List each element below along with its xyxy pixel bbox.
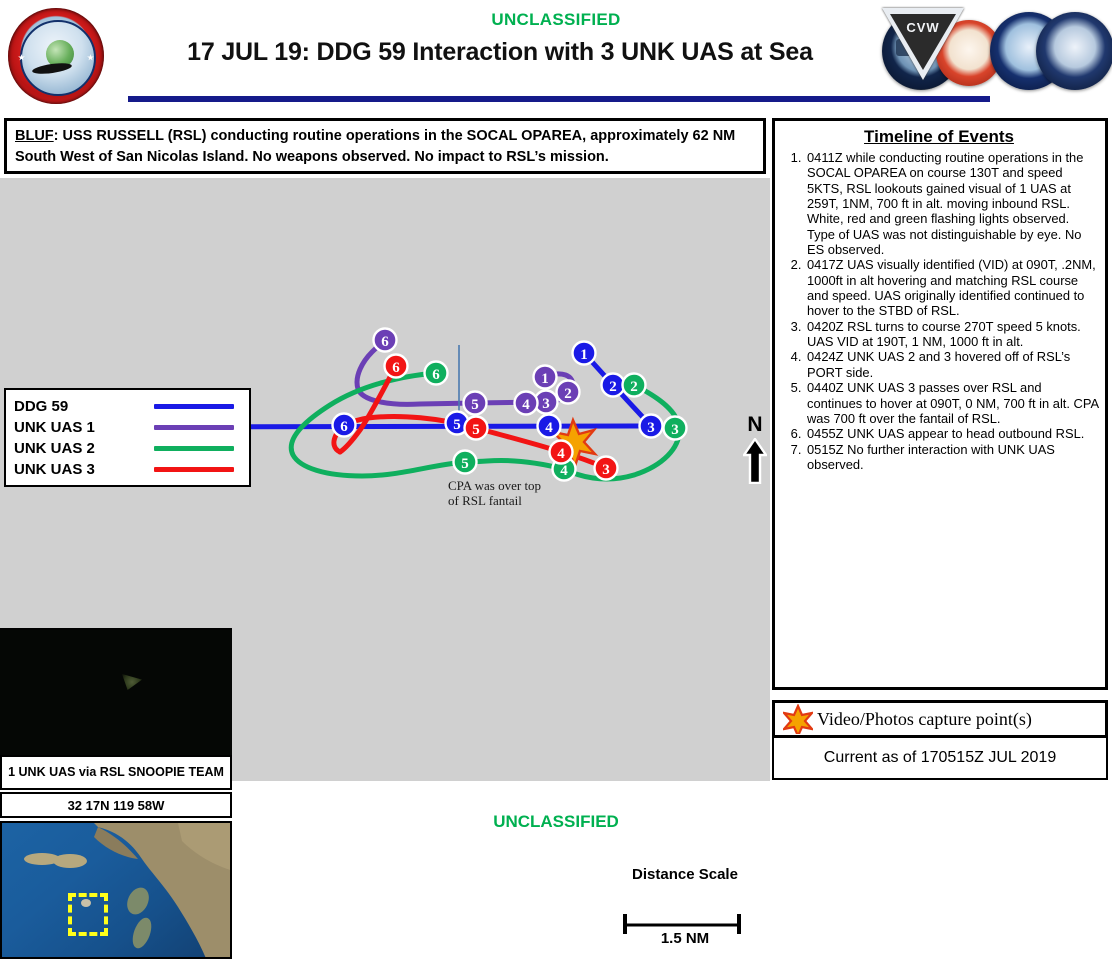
timeline-list: 0411Z while conducting routine operation… [779, 150, 1099, 472]
timeline-item: 0455Z UNK UAS appear to head outbound RS… [805, 426, 1099, 441]
capture-point-legend: Video/Photos capture point(s) [772, 700, 1108, 738]
svg-text:6: 6 [432, 367, 440, 383]
legend-label: UNK UAS 2 [14, 440, 154, 457]
timeline-item: 0420Z RSL turns to course 270T speed 5 k… [805, 319, 1099, 350]
svg-text:3: 3 [647, 420, 655, 436]
legend-swatch-unk-uas-1 [154, 425, 234, 430]
legend-item-unk-uas-2: UNK UAS 2 [14, 438, 241, 459]
cvw-11-seal: CVW [882, 8, 964, 80]
north-compass: N [735, 414, 775, 484]
svg-text:1: 1 [580, 347, 588, 363]
ddg-1000-seal [1036, 12, 1112, 90]
legend-item-unk-uas-3: UNK UAS 3 [14, 459, 241, 480]
svg-text:2: 2 [609, 379, 617, 395]
timeline-item: 0417Z UAS visually identified (VID) at 0… [805, 257, 1099, 318]
svg-text:6: 6 [381, 334, 389, 350]
svg-text:5: 5 [471, 397, 479, 413]
timeline-item: 0424Z UNK UAS 2 and 3 hovered off of RSL… [805, 349, 1099, 380]
svg-text:6: 6 [392, 360, 400, 376]
svg-text:4: 4 [560, 463, 568, 479]
capture-point-label: Video/Photos capture point(s) [817, 709, 1032, 730]
legend-label: UNK UAS 1 [14, 419, 154, 436]
track-legend: DDG 59 UNK UAS 1 UNK UAS 2 UNK UAS 3 [4, 388, 251, 487]
timeline-title: Timeline of Events [779, 127, 1099, 147]
socal-satellite-inset [0, 821, 232, 959]
distance-scale-title: Distance Scale [600, 866, 770, 883]
cvw-label: CVW [882, 20, 964, 35]
coastline-shapes [2, 823, 232, 959]
unit-insignia-group: CVW [882, 8, 1104, 100]
uas-photo [0, 628, 232, 759]
capture-star-icon [783, 704, 813, 734]
bluf-label: BLUF [15, 128, 54, 144]
timeline-item: 0515Z No further interaction with UNK UA… [805, 442, 1099, 473]
distance-scale: Distance Scale 1.5 NM [600, 866, 770, 946]
current-as-of-label: Current as of 170515Z JUL 2019 [772, 738, 1108, 780]
legend-swatch-unk-uas-3 [154, 467, 234, 472]
timeline-item: 0411Z while conducting routine operation… [805, 150, 1099, 257]
svg-text:1: 1 [541, 371, 549, 387]
svg-text:5: 5 [453, 417, 461, 433]
svg-text:2: 2 [564, 386, 572, 402]
title-divider [128, 96, 990, 102]
bluf-body: : USS RUSSELL (RSL) conducting routine o… [15, 128, 735, 165]
legend-item-ddg-59: DDG 59 [14, 396, 241, 417]
compass-north-label: N [735, 414, 775, 436]
svg-text:6: 6 [340, 419, 348, 435]
legend-swatch-ddg-59 [154, 404, 234, 409]
svg-text:3: 3 [671, 422, 679, 438]
legend-label: UNK UAS 3 [14, 461, 154, 478]
svg-text:3: 3 [542, 396, 550, 412]
bluf-box: BLUF: USS RUSSELL (RSL) conducting routi… [4, 118, 766, 174]
classification-banner-bottom: UNCLASSIFIED [0, 812, 1112, 832]
legend-swatch-unk-uas-2 [154, 446, 234, 451]
timeline-item: 0440Z UNK UAS 3 passes over RSL and cont… [805, 380, 1099, 426]
slide-header: UNCLASSIFIED 17 JUL 19: DDG 59 Interacti… [0, 0, 1112, 110]
legend-label: DDG 59 [14, 398, 154, 415]
uas-silhouette-icon [122, 674, 142, 690]
svg-text:5: 5 [461, 456, 469, 472]
operating-area-box [68, 893, 108, 936]
svg-text:3: 3 [602, 462, 610, 478]
svg-text:5: 5 [472, 422, 480, 438]
svg-text:4: 4 [557, 446, 565, 462]
cpa-annotation: CPA was over top of RSL fantail [448, 478, 544, 509]
svg-text:2: 2 [630, 379, 638, 395]
photo-caption: 1 UNK UAS via RSL SNOOPIE TEAM [0, 755, 232, 790]
legend-item-unk-uas-1: UNK UAS 1 [14, 417, 241, 438]
north-arrow-icon [743, 438, 767, 484]
bluf-text: BLUF: USS RUSSELL (RSL) conducting routi… [15, 126, 755, 168]
carrier-strike-group-nine-seal [8, 8, 104, 104]
distance-scale-value: 1.5 NM [600, 930, 770, 947]
svg-text:4: 4 [522, 397, 530, 413]
page-title: 17 JUL 19: DDG 59 Interaction with 3 UNK… [120, 38, 880, 67]
timeline-panel: Timeline of Events 0411Z while conductin… [772, 118, 1108, 690]
track-map[interactable]: 123 456 7 123 456 [0, 178, 770, 781]
svg-text:4: 4 [545, 420, 553, 436]
